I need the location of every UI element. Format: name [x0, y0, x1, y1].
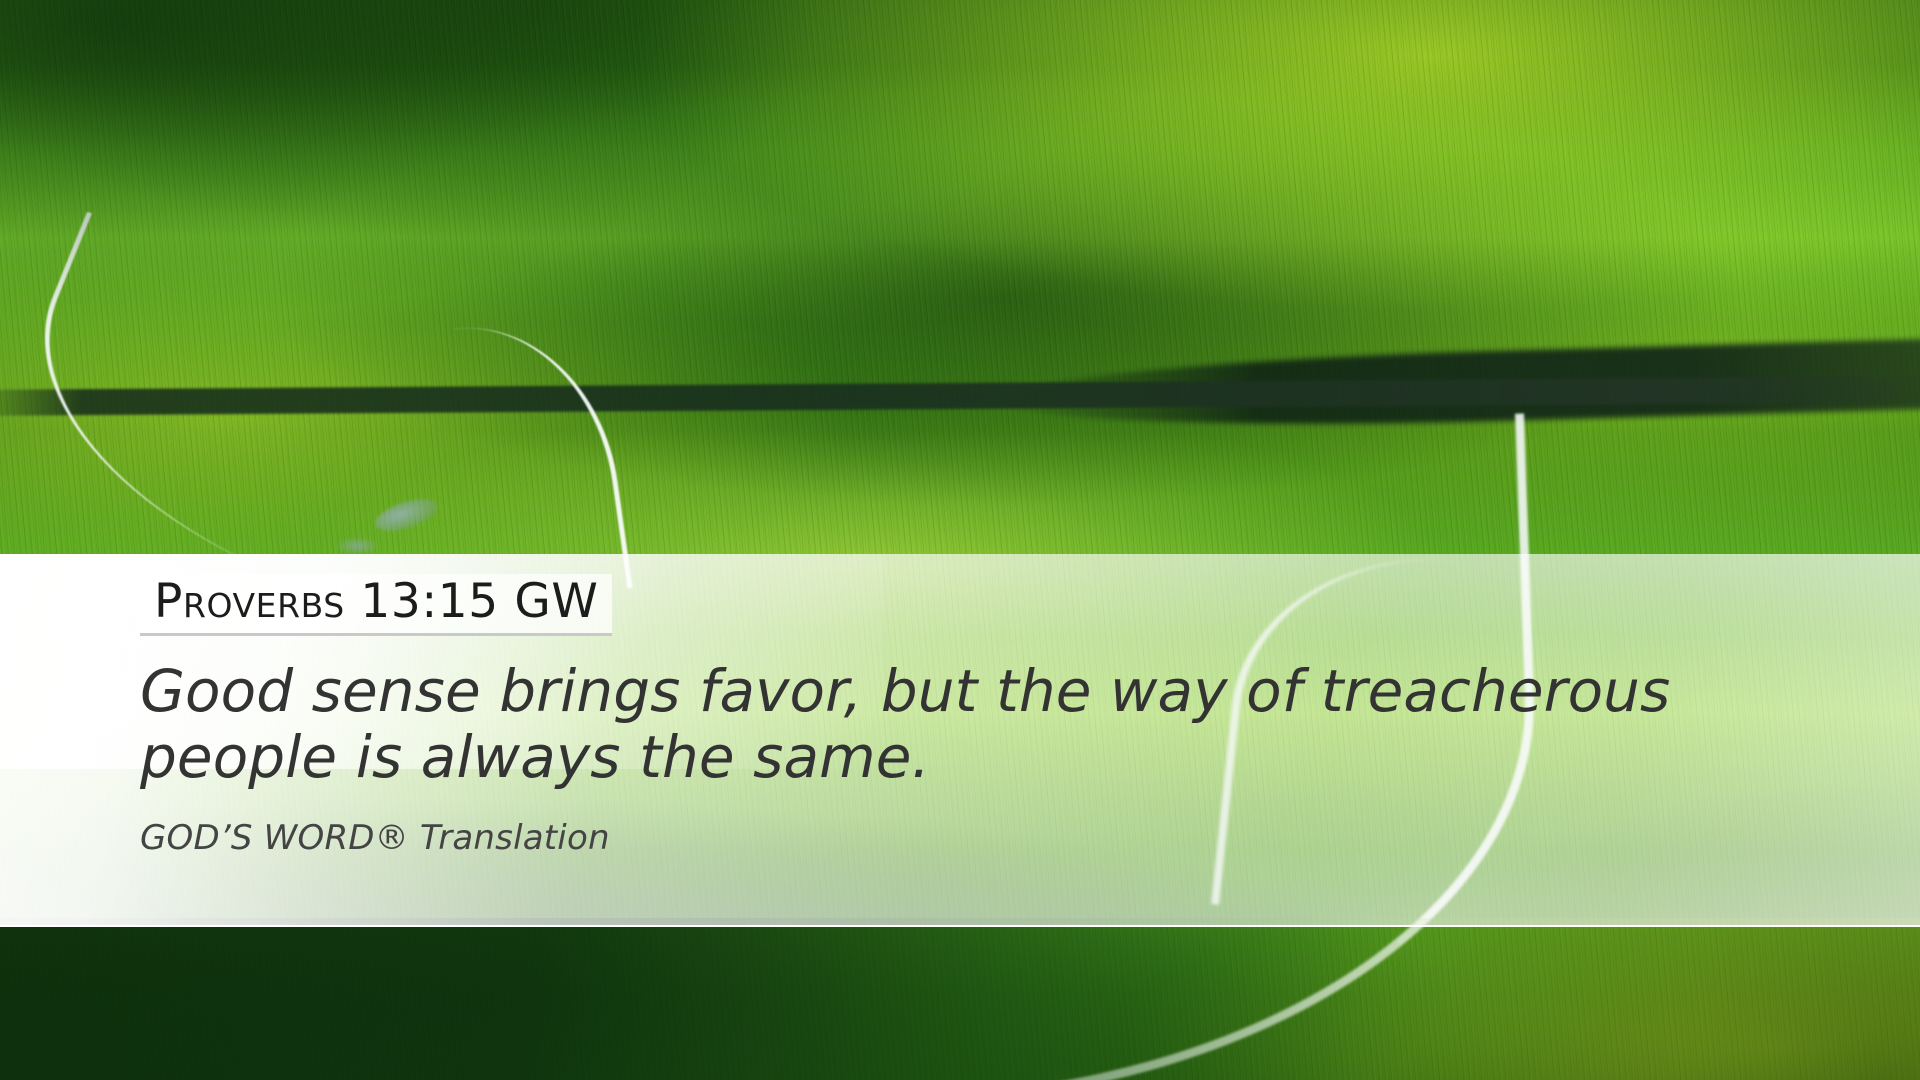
verse-card: Proverbs 13:15 GW Good sense brings favo…	[140, 574, 1760, 859]
verse-text-line: Good sense brings favor, but the way of …	[140, 658, 1700, 724]
verse-reference: Proverbs 13:15 GW	[140, 574, 612, 636]
wallpaper-canvas: Proverbs 13:15 GW Good sense brings favo…	[0, 0, 1920, 1080]
translation-attribution: GOD’S WORD® Translation	[140, 818, 1760, 859]
verse-text-line: people is always the same.	[140, 724, 1700, 790]
verse-text: Good sense brings favor, but the way of …	[140, 658, 1700, 790]
